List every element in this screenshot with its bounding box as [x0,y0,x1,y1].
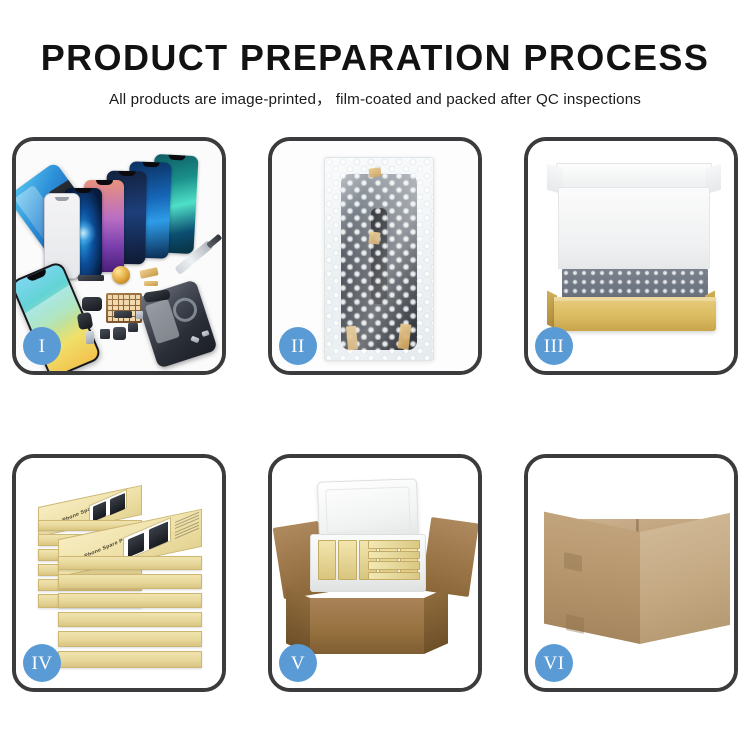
retail-box-edge [58,574,202,589]
process-step-panel-5: V [268,454,482,692]
spare-part-icon [100,329,110,339]
retail-box-edge [58,593,202,608]
carton-flap-right [421,517,478,597]
product-preparation-infographic: PRODUCT PREPARATION PROCESS All products… [0,0,750,750]
process-step-panel-1: I [12,137,226,375]
spare-part-icon [144,281,158,286]
process-step-panel-3: III [524,137,738,375]
shipping-carton-icon [308,598,426,654]
speaker-module-icon [112,266,130,284]
step-1-illustration: I [16,141,222,371]
box-label-window [89,489,127,524]
spare-part-icon [128,323,138,332]
step-3-illustration: III [528,141,734,371]
retail-box-edge [58,651,202,668]
notch-icon [142,162,159,168]
notch-icon [75,188,92,193]
flex-cable-icon [77,312,94,330]
retail-box-edge [58,556,202,570]
notch-icon [118,171,135,176]
box-label-window [123,517,171,561]
notch-icon [168,155,185,161]
process-step-panel-2: II [268,137,482,375]
spare-part-icon [86,331,94,344]
step-badge-5: V [279,644,317,682]
step-badge-3: III [535,327,573,365]
flex-cable-icon [82,297,102,311]
kraft-box-front-icon [554,297,716,331]
box-label-spec-lines [175,512,199,541]
notch-icon [96,180,113,185]
step-2-illustration: II [272,141,478,371]
process-step-panel-6: VI [524,454,738,692]
carton-right-face [640,513,730,644]
bubble-wrap-bag-icon [324,157,434,361]
step-badge-2: II [279,327,317,365]
spare-part-icon [78,275,104,281]
retail-box-edge [58,631,202,647]
step-5-illustration: V [272,458,478,688]
step-badge-4: IV [23,644,61,682]
step-4-illustration: Mobile Phone Spare Parts Mobile [16,458,222,688]
spare-part-icon [114,311,132,318]
wrapped-screens-stack-icon [562,269,708,299]
step-badge-6: VI [535,644,573,682]
spare-part-icon [113,327,126,340]
page-subtitle: All products are image-printed， film-coa… [0,87,750,109]
box-interior-icon [558,187,710,269]
plastic-sheen [325,158,433,360]
process-step-grid: I II [12,137,738,692]
page-title: PRODUCT PREPARATION PROCESS [0,38,750,78]
process-step-panel-4: Mobile Phone Spare Parts Mobile [12,454,226,692]
step-badge-1: I [23,327,61,365]
step-6-illustration: VI [528,458,734,688]
spare-part-icon [136,311,143,319]
packed-boxes-column [368,540,420,580]
carton-left-face [544,512,640,644]
header: PRODUCT PREPARATION PROCESS All products… [0,38,750,109]
retail-box-stack: Mobile Phone Spare Parts Mobile [34,484,214,670]
retail-box-edge [58,612,202,627]
